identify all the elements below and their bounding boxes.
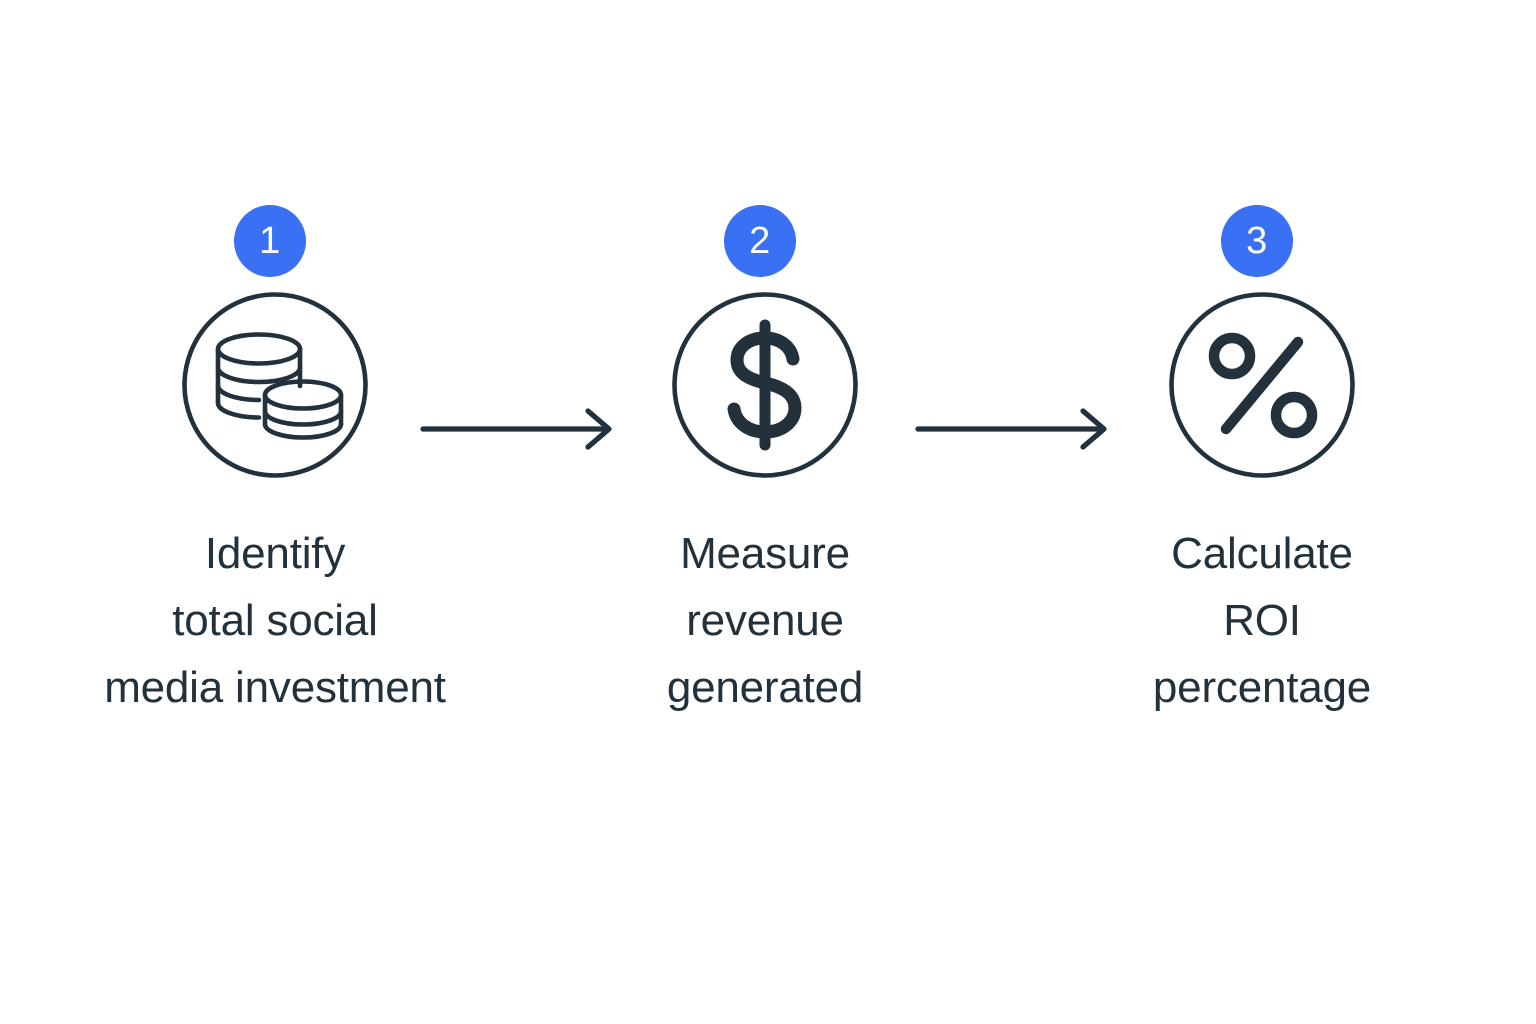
percent-icon xyxy=(1168,291,1356,479)
step-2-caption: Measure revenue generated xyxy=(667,521,863,722)
step-3-badge-row: 3 xyxy=(1012,205,1512,291)
step-2-number: 2 xyxy=(749,222,771,260)
step-3-icon-circle xyxy=(1168,291,1356,479)
step-1-number-badge: 1 xyxy=(234,205,306,277)
step-1-icon-circle xyxy=(181,291,369,479)
step-1-badge-row: 1 xyxy=(25,205,525,291)
step-3-number: 3 xyxy=(1246,222,1268,260)
step-3: 3 Calculate ROI percentage xyxy=(1012,205,1512,722)
step-1: 1 xyxy=(25,205,525,722)
process-flow-diagram: 1 xyxy=(0,0,1536,1024)
step-1-number: 1 xyxy=(259,222,281,260)
step-2-icon-circle xyxy=(671,291,859,479)
coin-stack-icon xyxy=(181,291,369,479)
dollar-sign-icon xyxy=(671,291,859,479)
step-1-caption: Identify total social media investment xyxy=(104,521,446,722)
step-2: 2 Measure revenue generated xyxy=(515,205,1015,722)
step-2-badge-row: 2 xyxy=(515,205,1015,291)
step-2-number-badge: 2 xyxy=(724,205,796,277)
step-3-number-badge: 3 xyxy=(1221,205,1293,277)
step-3-caption: Calculate ROI percentage xyxy=(1153,521,1371,722)
